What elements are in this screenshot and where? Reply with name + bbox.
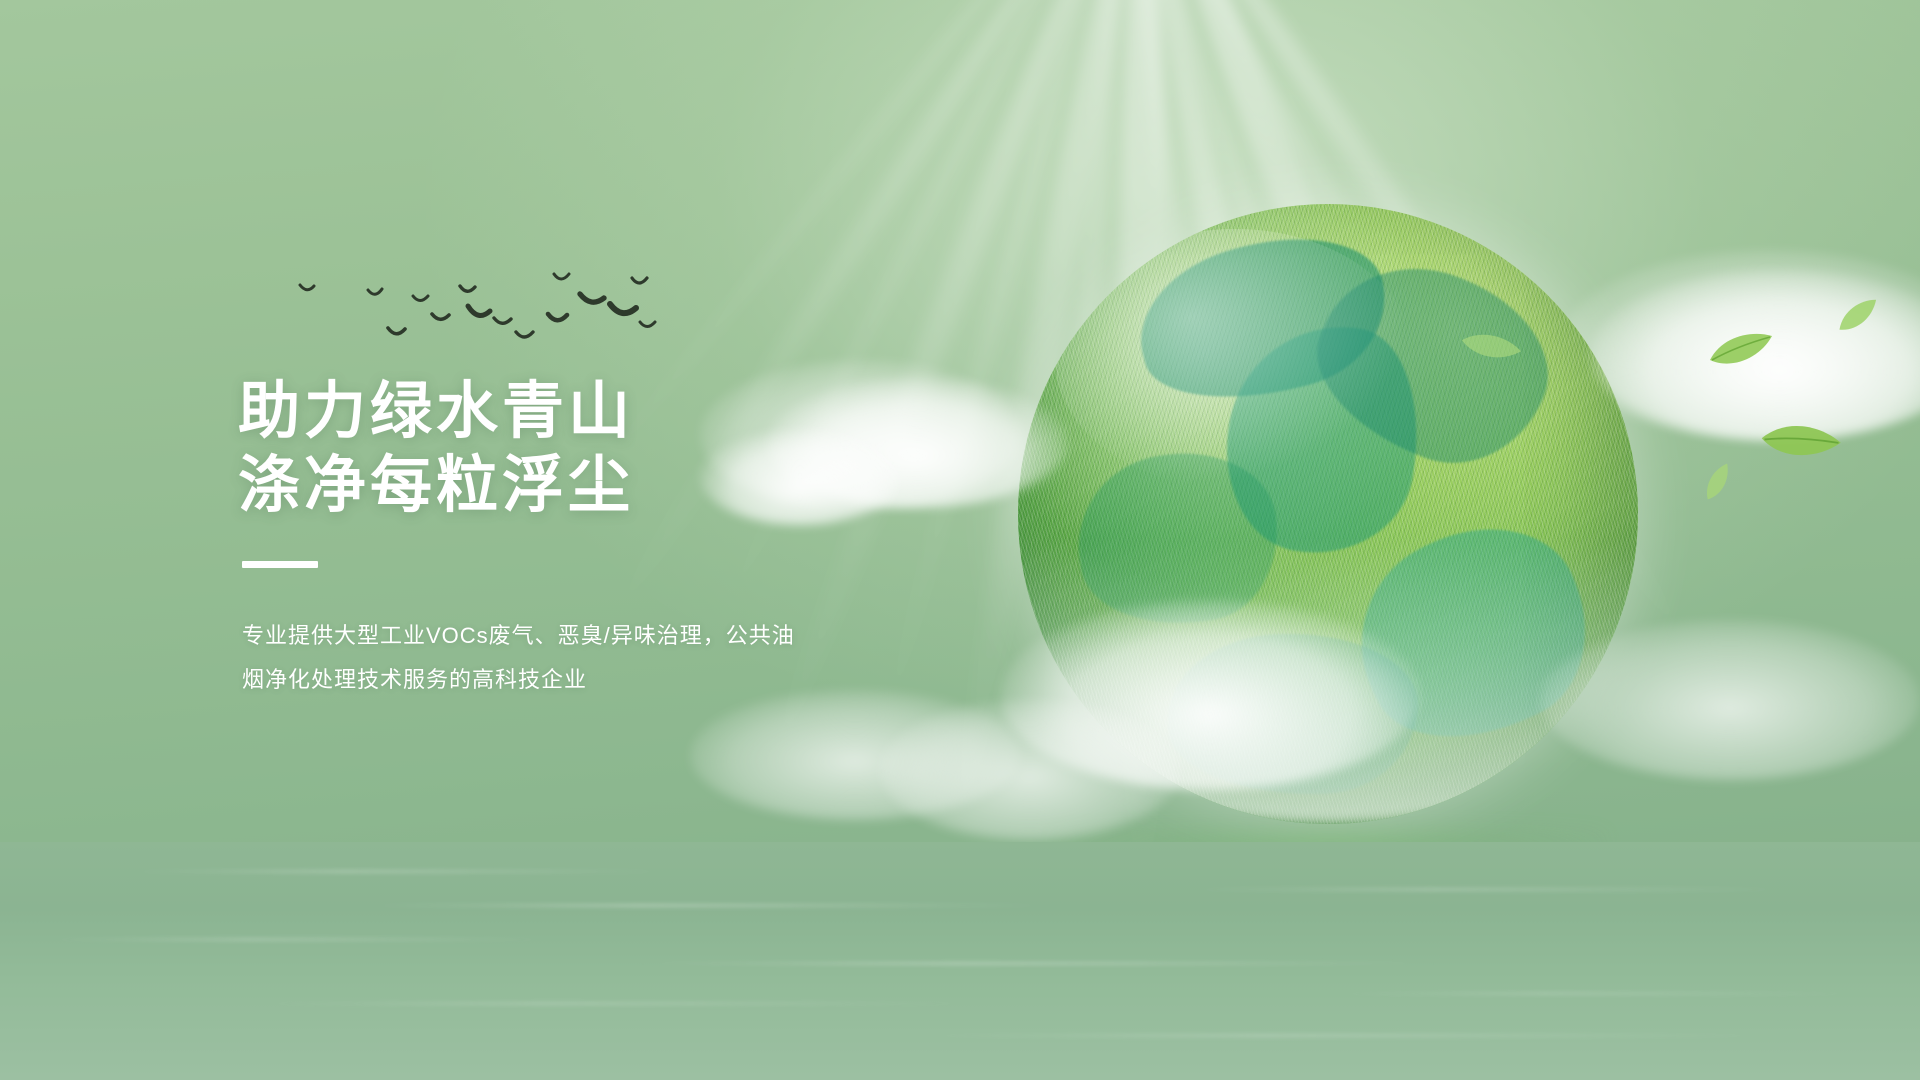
hero-copy: 助力绿水青山 涤净每粒浮尘 专业提供大型工业VOCs废气、恶臭/异味治理，公共油… [238, 375, 978, 702]
hero-description: 专业提供大型工业VOCs废气、恶臭/异味治理，公共油烟净化处理技术服务的高科技企… [242, 614, 802, 702]
hero-banner: 助力绿水青山 涤净每粒浮尘 专业提供大型工业VOCs废气、恶臭/异味治理，公共油… [0, 0, 1920, 1080]
water-surface [0, 842, 1920, 1080]
leaf-top-right [1708, 330, 1774, 375]
page-title: 助力绿水青山 涤净每粒浮尘 [238, 375, 978, 523]
globe-highlight [1055, 229, 1415, 489]
headline-line-1: 助力绿水青山 [238, 377, 634, 446]
birds-svg [280, 230, 740, 360]
cloud-center-low [880, 700, 1180, 840]
title-divider [242, 561, 318, 568]
headline-line-2: 涤净每粒浮尘 [238, 449, 978, 523]
bird-flock [280, 230, 740, 360]
leaf-lower-right [1695, 461, 1744, 509]
cloud-right-low [1540, 620, 1920, 780]
